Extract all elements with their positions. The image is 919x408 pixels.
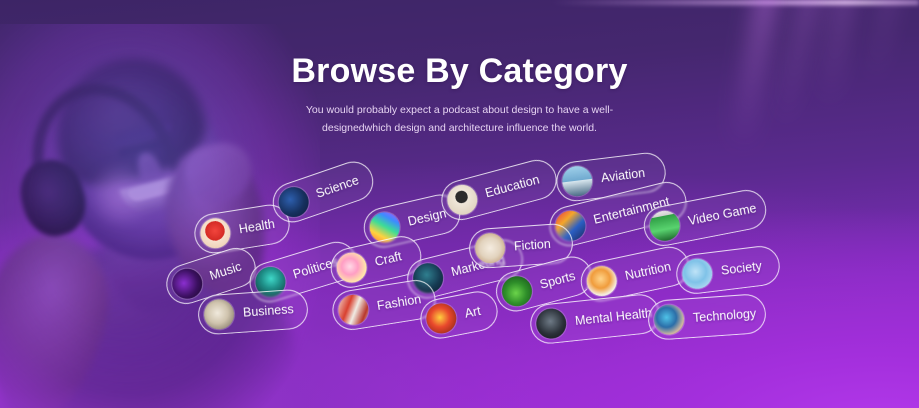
category-pill-label: Fashion [376, 292, 422, 313]
art-icon [424, 301, 459, 336]
category-pill-cloud: HealthScienceDesignEducationAviationEnte… [0, 0, 919, 408]
category-pill-label: Video Game [687, 201, 758, 228]
health-icon [198, 216, 232, 250]
category-pill-label: Nutrition [624, 260, 672, 283]
science-icon [275, 183, 313, 221]
category-pill-label: Sports [538, 269, 577, 292]
fiction-icon [474, 232, 506, 264]
mentalhealth-icon [535, 307, 568, 340]
category-pill-label: Aviation [600, 166, 646, 185]
category-pill-label: Music [208, 260, 243, 283]
fashion-icon [336, 293, 370, 327]
category-pill-label: Design [407, 206, 448, 228]
category-pill-label: Health [238, 217, 276, 236]
aviation-icon [561, 164, 594, 197]
category-pill-label: Society [720, 259, 762, 278]
category-pill-label: Education [484, 172, 541, 200]
society-icon [681, 257, 714, 290]
category-pill-society[interactable]: Society [674, 244, 782, 296]
category-pill-label: Business [243, 302, 295, 320]
category-pill-label: Craft [373, 249, 403, 269]
browse-by-category-section: Browse By Category You would probably ex… [0, 0, 919, 408]
videogame-icon [647, 208, 682, 243]
category-pill-education[interactable]: Education [437, 155, 561, 224]
category-pill-label: Science [314, 173, 361, 201]
category-pill-label: Mental Health [574, 306, 652, 328]
technology-icon [653, 304, 685, 336]
category-pill-business[interactable]: Business [197, 288, 310, 336]
category-pill-label: Technology [693, 307, 757, 325]
category-pill-label: Art [464, 304, 482, 321]
category-pill-label: Fiction [514, 237, 552, 254]
category-pill-technology[interactable]: Technology [647, 293, 768, 341]
music-icon [168, 265, 206, 303]
category-pill-science[interactable]: Science [267, 156, 378, 228]
business-icon [203, 298, 235, 330]
sports-icon [499, 273, 536, 310]
craft-icon [334, 250, 370, 286]
education-icon [444, 181, 481, 218]
nutrition-icon [584, 263, 620, 299]
